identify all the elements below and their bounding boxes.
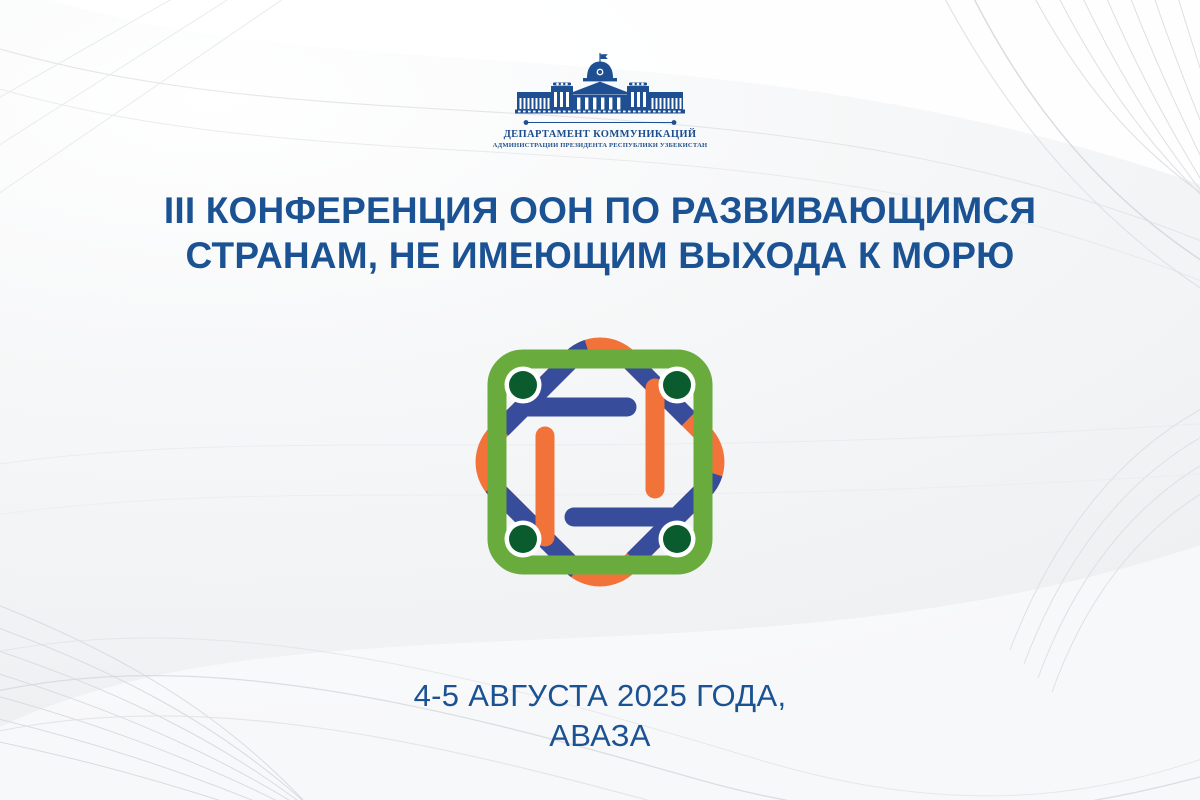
department-name: ДЕПАРТАМЕНТ КОММУНИКАЦИЙ	[504, 129, 697, 140]
interlocking-squares-emblem	[450, 312, 750, 612]
page-title: III КОНФЕРЕНЦИЯ ООН ПО РАЗВИВАЮЩИМСЯ СТР…	[0, 188, 1200, 278]
title-line-1: III КОНФЕРЕНЦИЯ ООН ПО РАЗВИВАЮЩИМСЯ	[80, 188, 1120, 233]
department-subtitle: АДМИНИСТРАЦИИ ПРЕЗИДЕНТА РЕСПУБЛИКИ УЗБЕ…	[493, 142, 708, 149]
government-building-icon	[495, 52, 705, 114]
event-venue: АВАЗА	[0, 716, 1200, 756]
title-line-2: СТРАНАМ, НЕ ИМЕЮЩИМ ВЫХОДА К МОРЮ	[80, 233, 1120, 278]
emblem-node	[505, 521, 542, 558]
conference-emblem	[450, 312, 750, 612]
emblem-node	[505, 367, 542, 404]
event-date: 4-5 АВГУСТА 2025 ГОДА,	[0, 676, 1200, 716]
department-logo: ДЕПАРТАМЕНТ КОММУНИКАЦИЙ АДМИНИСТРАЦИИ П…	[0, 52, 1200, 149]
conference-poster: ДЕПАРТАМЕНТ КОММУНИКАЦИЙ АДМИНИСТРАЦИИ П…	[0, 0, 1200, 800]
emblem-node	[659, 367, 696, 404]
logo-divider	[496, 117, 704, 128]
emblem-node	[659, 521, 696, 558]
event-date-venue: 4-5 АВГУСТА 2025 ГОДА, АВАЗА	[0, 676, 1200, 755]
